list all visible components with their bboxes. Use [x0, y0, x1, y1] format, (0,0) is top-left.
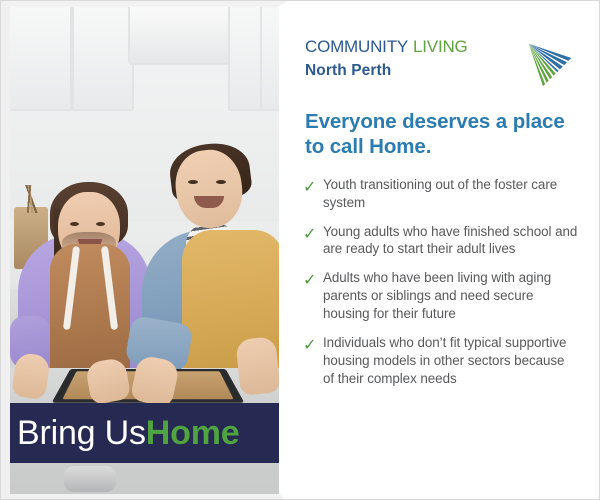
person-boy-eye	[216, 180, 226, 184]
person-girl-eye	[96, 222, 105, 226]
range-hood-icon	[128, 7, 232, 65]
list-item-label: Youth transitioning out of the foster ca…	[323, 176, 579, 212]
person-hand	[235, 336, 279, 396]
cookie-cutter-icon	[64, 466, 116, 492]
cabinet-icon	[10, 7, 72, 111]
content-panel: CommunityLiving North Perth	[287, 1, 600, 500]
logo: CommunityLiving North Perth	[301, 27, 579, 93]
logo-subtitle: North Perth	[305, 62, 468, 80]
check-icon: ✓	[303, 334, 323, 356]
list-item: ✓ Individuals who don’t fit typical supp…	[303, 334, 579, 388]
banner-text-green: Home	[146, 414, 240, 452]
cabinet-icon	[72, 7, 134, 111]
list-item-label: Adults who have been living with aging p…	[323, 269, 579, 323]
page-title: Everyone deserves a place to call Home.	[305, 109, 579, 160]
check-icon: ✓	[303, 223, 323, 245]
logo-word-community: Community	[305, 31, 408, 58]
person-girl-eye	[70, 222, 79, 226]
logo-wordmark: CommunityLiving North Perth	[305, 33, 468, 80]
check-icon: ✓	[303, 269, 323, 291]
check-icon: ✓	[303, 176, 323, 198]
list-item: ✓ Adults who have been living with aging…	[303, 269, 579, 323]
kitchen-photo: Bring UsHome	[10, 7, 279, 494]
person-boy-eye	[188, 180, 198, 184]
banner-text: Bring UsHome	[10, 416, 239, 450]
list-item-label: Young adults who have finished school an…	[323, 223, 579, 259]
eligibility-list: ✓ Youth transitioning out of the foster …	[303, 176, 579, 388]
list-item: ✓ Youth transitioning out of the foster …	[303, 176, 579, 212]
photo-panel: Bring UsHome	[1, 1, 287, 500]
list-item-label: Individuals who don’t fit typical suppor…	[323, 334, 579, 388]
cabinet-icon	[260, 7, 279, 111]
bring-us-home-banner: Bring UsHome	[10, 403, 279, 463]
logo-word-living: Living	[413, 31, 468, 58]
list-item: ✓ Young adults who have finished school …	[303, 223, 579, 259]
poster-card: Bring UsHome CommunityLiving North Perth	[0, 0, 600, 500]
banner-text-white: Bring Us	[17, 414, 146, 452]
radiating-diamond-logo-mark	[515, 27, 571, 89]
logo-line-1: CommunityLiving	[305, 33, 468, 58]
